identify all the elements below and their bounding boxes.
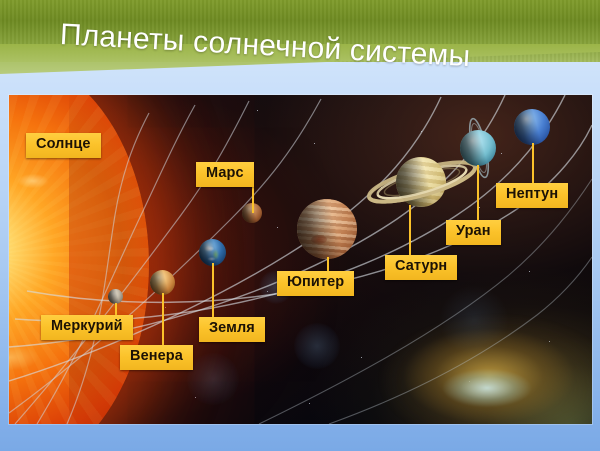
leader-line-earth [212, 263, 214, 317]
label-earth: Земля [199, 317, 265, 342]
planet-venus [150, 270, 175, 295]
planet-mercury [108, 289, 123, 304]
label-mercury: Меркурий [41, 315, 133, 340]
label-saturn: Сатурн [385, 255, 457, 280]
leader-line-neptune [532, 143, 534, 183]
slide: Планеты солнечной системы [0, 0, 600, 451]
planet-uranus [460, 130, 496, 166]
leader-line-mercury [115, 303, 117, 315]
leader-line-jupiter [327, 257, 329, 271]
leader-line-uranus [477, 165, 479, 220]
leader-line-mars [252, 187, 254, 213]
label-venus: Венера [120, 345, 193, 370]
planet-neptune [514, 109, 550, 145]
label-jupiter: Юпитер [277, 271, 354, 296]
planet-earth [199, 239, 226, 266]
label-mars: Марс [196, 162, 254, 187]
label-sun: Солнце [26, 133, 101, 158]
planet-jupiter [297, 199, 357, 259]
label-neptune: Нептун [496, 183, 568, 208]
planet-saturn [396, 157, 446, 207]
leader-line-saturn [409, 205, 411, 255]
leader-line-venus [162, 293, 164, 345]
label-uranus: Уран [446, 220, 501, 245]
